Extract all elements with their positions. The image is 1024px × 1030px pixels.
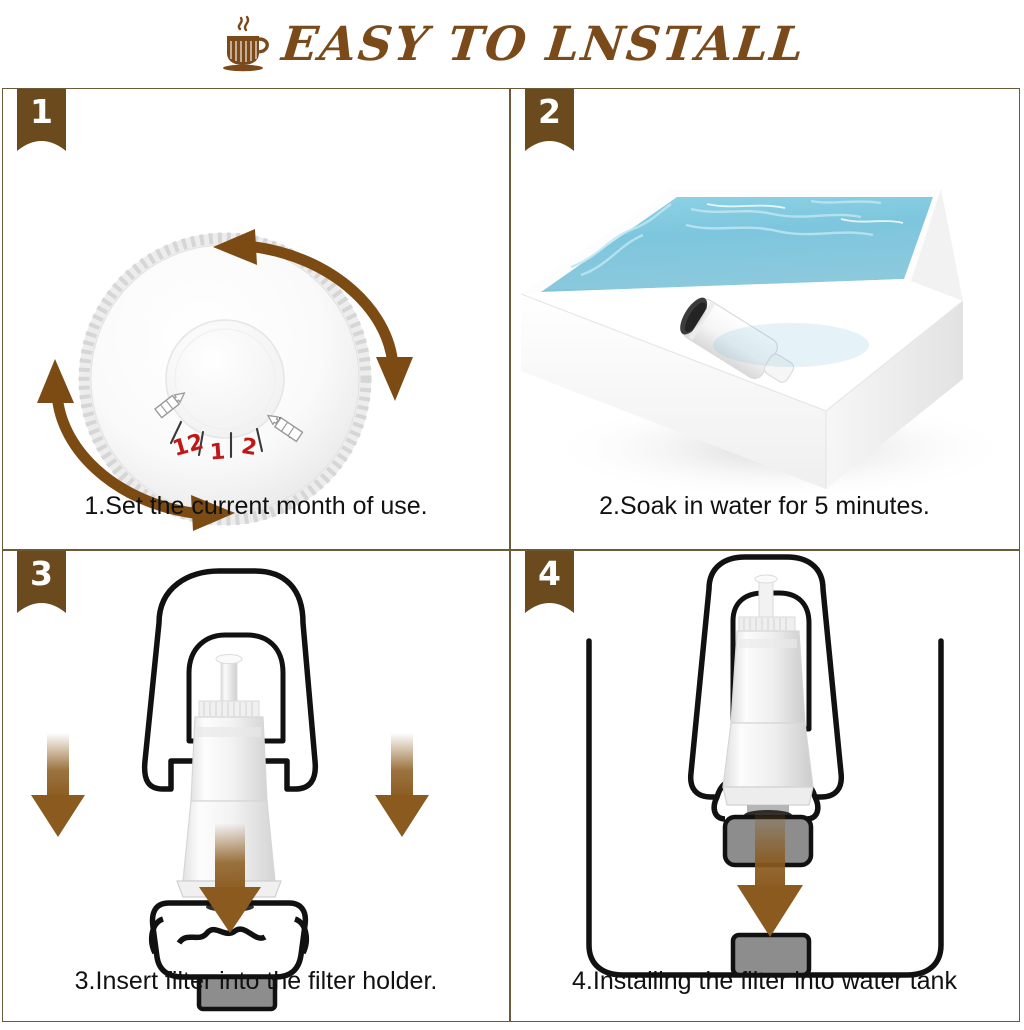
step-badge-3: 3 [17,551,66,613]
dial-hub [166,320,284,438]
steps-grid: 12 1 2 [2,88,1020,1022]
rotation-arrow-head-left [37,359,74,403]
step-panel-4: 4 4.Installing the filter into water tan… [511,551,1018,1020]
filter-into-holder-illustration [3,551,509,1020]
dial-month-selector-illustration: 12 1 2 [3,89,509,549]
arrow-left [31,733,85,837]
step-badge-2: 2 [525,89,574,151]
coffee-cup-icon [218,15,272,73]
page-title: EASY TO LNSTALL [279,17,808,72]
step-caption-1: 1.Set the current month of use. [3,492,509,521]
dial-number-1: 1 [209,440,226,466]
arrow-right [375,733,429,837]
step-badge-4: 4 [525,551,574,613]
step-caption-4: 4.Installing the filter into water tank [511,967,1018,996]
step-panel-1: 12 1 2 [3,89,509,549]
holder-into-tank-illustration [511,551,1018,1020]
rotation-arrow-head-right [376,357,413,401]
water-basin-illustration [511,89,1018,549]
step-panel-2: 2 2.Soak in water for 5 minutes. [511,89,1018,549]
step-panel-3: 3 3.Insert filter into the filter holder… [3,551,509,1020]
step-caption-2: 2.Soak in water for 5 minutes. [511,492,1018,521]
step-badge-1: 1 [17,89,66,151]
page-header: EASY TO LNSTALL [0,0,1024,88]
step-caption-3: 3.Insert filter into the filter holder. [3,967,509,996]
